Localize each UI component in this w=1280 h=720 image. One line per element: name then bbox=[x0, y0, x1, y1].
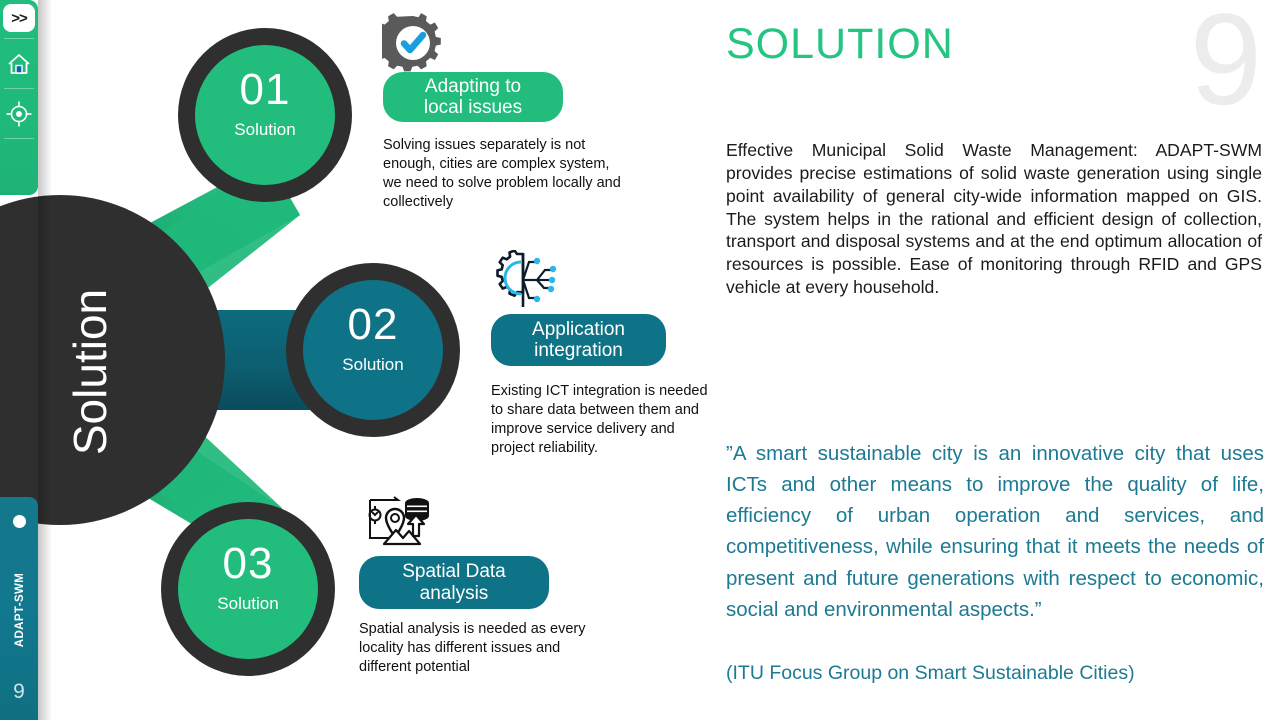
pill-label-03[interactable]: Spatial Data analysis bbox=[359, 556, 549, 609]
home-icon[interactable] bbox=[0, 40, 38, 88]
pill-02-line2: integration bbox=[534, 340, 623, 361]
description-03: Spatial analysis is needed as every loca… bbox=[359, 620, 609, 677]
gear-network-icon bbox=[487, 250, 559, 310]
map-database-icon bbox=[362, 492, 434, 550]
quote-text: ”A smart sustainable city is an innovati… bbox=[726, 438, 1264, 625]
sidebar-shadow bbox=[38, 0, 52, 720]
sidebar: >> ADAPT-SWM 9 bbox=[0, 0, 38, 720]
description-01: Solving issues separately is not enough,… bbox=[383, 136, 623, 213]
pill-01-line2: local issues bbox=[424, 97, 522, 118]
sidebar-divider-1 bbox=[4, 38, 34, 39]
gear-check-icon bbox=[382, 12, 444, 74]
node-01-circle[interactable] bbox=[195, 45, 335, 185]
pill-label-02[interactable]: Application integration bbox=[491, 314, 666, 366]
solution-diagram: Solution 01 Solution 02 Solution 03 Solu… bbox=[0, 0, 720, 720]
description-02: Existing ICT integration is needed to sh… bbox=[491, 382, 719, 459]
slide-number-watermark: 9 bbox=[1190, 0, 1262, 124]
right-content-panel: 9 SOLUTION Effective Municipal Solid Was… bbox=[720, 0, 1280, 720]
body-paragraph: Effective Municipal Solid Waste Manageme… bbox=[726, 139, 1262, 299]
pill-label-01[interactable]: Adapting to local issues bbox=[383, 72, 563, 122]
sidebar-divider-2 bbox=[4, 88, 34, 89]
sidebar-divider-3 bbox=[4, 138, 34, 139]
expand-sidebar-button[interactable]: >> bbox=[3, 4, 35, 32]
status-dot bbox=[13, 515, 26, 528]
pill-03-line2: analysis bbox=[420, 583, 489, 604]
pill-01-line1: Adapting to bbox=[425, 76, 521, 97]
brand-label: ADAPT-SWM bbox=[10, 560, 30, 660]
sidebar-slide-number: 9 bbox=[0, 680, 38, 704]
target-icon[interactable] bbox=[0, 90, 38, 138]
page-title: SOLUTION bbox=[726, 20, 954, 69]
pill-03-line1: Spatial Data bbox=[402, 561, 506, 582]
node-02-circle[interactable] bbox=[303, 280, 443, 420]
quote-source: (ITU Focus Group on Smart Sustainable Ci… bbox=[726, 662, 1264, 685]
pill-02-line1: Application bbox=[532, 319, 625, 340]
node-03-circle[interactable] bbox=[178, 519, 318, 659]
